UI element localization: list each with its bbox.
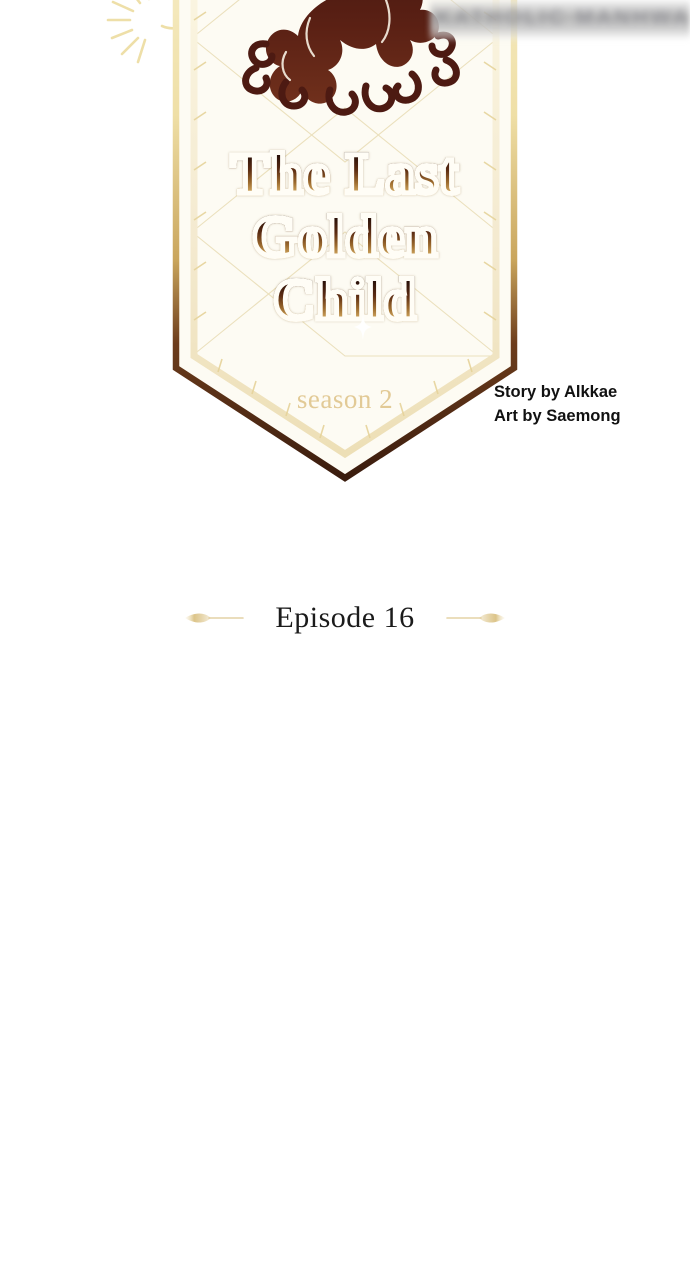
credit-story: Story by Alkkae [494, 381, 621, 405]
hair-mass [266, 0, 439, 104]
webtoon-title-page: KATHOLIC MANHWA [0, 0, 690, 1280]
credits-block: Story by Alkkae Art by Saemong [494, 381, 621, 429]
ornament-left-icon [183, 609, 245, 627]
watermark-text: KATHOLIC MANHWA [436, 6, 686, 30]
episode-label: Episode 16 [275, 601, 414, 635]
credit-art: Art by Saemong [494, 405, 621, 429]
ornament-right-icon [445, 609, 507, 627]
blurred-watermark-bar: KATHOLIC MANHWA [430, 0, 690, 40]
episode-heading-row: Episode 16 [0, 598, 690, 638]
